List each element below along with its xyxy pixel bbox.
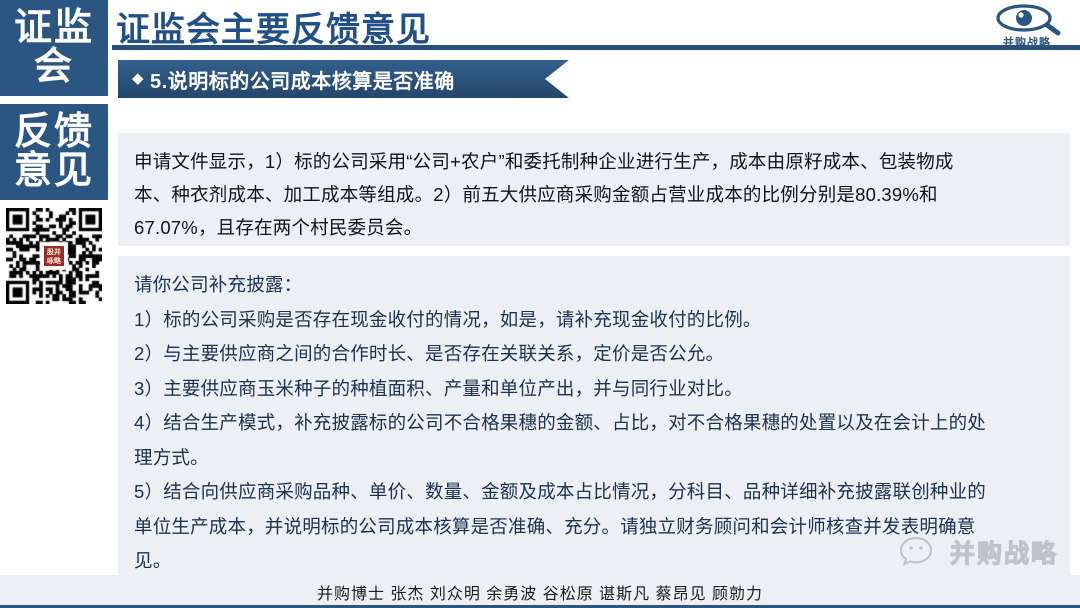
request-line: 1）标的公司采购是否存在现金收付的情况，如是，请补充现金收付的比例。 (134, 303, 1054, 338)
sidebar-block-csrc-line-1: 证监 (14, 9, 94, 48)
background-line: 申请文件显示，1）标的公司采用“公司+农户”和委托制种企业进行生产，成本由原籽成… (134, 145, 1054, 178)
eye-magnifier-icon (984, 3, 1070, 37)
request-line: 理方式。 (134, 441, 1054, 476)
footer-credits: 并购博士 张杰 刘众明 余勇波 谷松原 谌斯凡 蔡昂见 顾勍力 (317, 580, 763, 604)
sidebar-block-csrc: 证监 会 (0, 0, 108, 96)
section-heading-text: 5.说明标的公司成本核算是否准确 (150, 65, 455, 94)
request-line: 4）结合生产模式，补充披露标的公司不合格果穗的金额、占比，对不合格果穗的处置以及… (134, 406, 1054, 441)
page-header: 证监会主要反馈意见 并购战略 (108, 0, 1080, 52)
page-title: 证监会主要反馈意见 (116, 2, 431, 51)
request-line: 5）结合向供应商采购品种、单价、数量、金额及成本占比情况，分科目、品种详细补充披… (134, 475, 1054, 510)
left-sidebar: 证监 会 反馈 意见 股并咏略 (0, 0, 108, 608)
request-line: 2）与主要供应商之间的合作时长、是否存在关联关系，定价是否公允。 (134, 337, 1054, 372)
sidebar-block-csrc-line-2: 会 (34, 48, 74, 87)
request-line: 单位生产成本，并说明标的公司成本核算是否准确、充分。请独立财务顾问和会计师核查并… (134, 510, 1054, 545)
brand-logo: 并购战略 (984, 3, 1070, 50)
background-line: 本、种衣剂成本、加工成本等组成。2）前五大供应商采购金额占营业成本的比例分别是8… (134, 178, 1054, 211)
section-heading-bar: ◆ 5.说明标的公司成本核算是否准确 (118, 60, 608, 98)
sidebar-block-feedback-line-1: 反馈 (14, 113, 94, 152)
requests-intro: 请你公司补充披露： (134, 268, 1054, 303)
title-underline-rule (112, 45, 1080, 50)
brand-logo-text: 并购战略 (984, 34, 1070, 50)
sidebar-block-feedback-line-2: 意见 (14, 152, 94, 191)
request-line: 3）主要供应商玉米种子的种植面积、产量和单位产出，并与同行业对比。 (134, 372, 1054, 407)
request-line: 见。 (134, 544, 1054, 579)
background-line: 67.07%，且存在两个村民委员会。 (134, 211, 1054, 244)
sidebar-block-feedback: 反馈 意见 (0, 104, 108, 200)
diamond-bullet-icon: ◆ (132, 69, 144, 87)
background-panel: 申请文件显示，1）标的公司采用“公司+农户”和委托制种企业进行生产，成本由原籽成… (118, 133, 1070, 246)
requests-panel: 请你公司补充披露： 1）标的公司采购是否存在现金收付的情况，如是，请补充现金收付… (118, 256, 1070, 575)
qr-code[interactable]: 股并咏略 (6, 208, 102, 304)
qr-code-seal: 股并咏略 (42, 244, 66, 268)
page-footer: 并购博士 张杰 刘众明 余勇波 谷松原 谌斯凡 蔡昂见 顾勍力 (0, 575, 1080, 608)
